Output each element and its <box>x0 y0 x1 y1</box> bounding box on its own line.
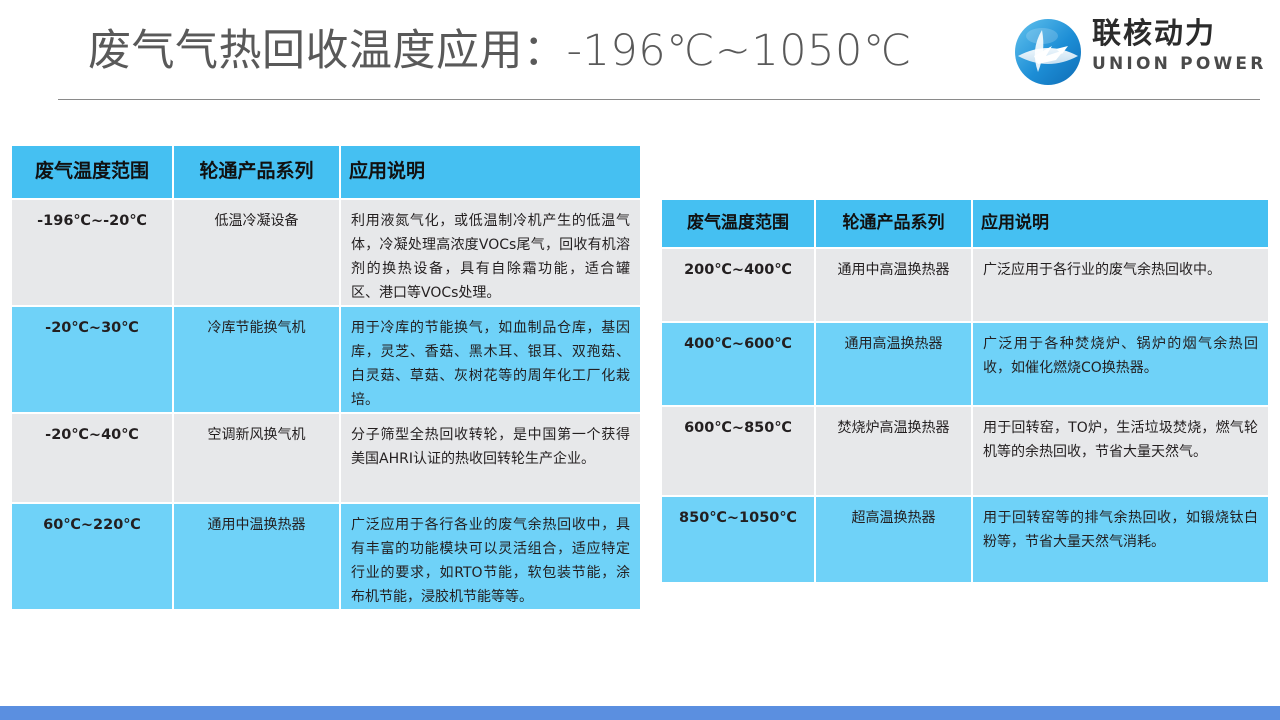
cell-application-note: 用于回转窑等的排气余热回收，如锻烧钛白粉等，节省大量天然气消耗。 <box>973 497 1268 582</box>
header-divider <box>58 99 1260 100</box>
cell-application-note: 利用液氮气化，或低温制冷机产生的低温气体，冷凝处理高浓度VOCs尾气，回收有机溶… <box>341 200 640 305</box>
cell-temperature-range: 600℃~850℃ <box>662 407 814 495</box>
cell-application-note: 广泛用于各种焚烧炉、锅炉的烟气余热回收，如催化燃烧CO换热器。 <box>973 323 1268 405</box>
cell-product-series: 通用中高温换热器 <box>816 249 971 321</box>
table-row[interactable]: -20℃~30℃ 冷库节能换气机 用于冷库的节能换气，如血制品仓库，基因库，灵芝… <box>12 307 640 412</box>
table-row[interactable]: 400℃~600℃ 通用高温换热器 广泛用于各种焚烧炉、锅炉的烟气余热回收，如催… <box>662 323 1268 405</box>
cell-temperature-range: 200℃~400℃ <box>662 249 814 321</box>
cell-product-series: 空调新风换气机 <box>174 414 339 502</box>
table-row[interactable]: 200℃~400℃ 通用中高温换热器 广泛应用于各行业的废气余热回收中。 <box>662 249 1268 321</box>
page-title: 废气气热回收温度应用：-196℃~1050℃ <box>88 25 912 79</box>
column-header-temperature-range: 废气温度范围 <box>662 200 814 247</box>
cell-temperature-range: 400℃~600℃ <box>662 323 814 405</box>
cell-application-note: 分子筛型全热回收转轮，是中国第一个获得美国AHRI认证的热收回转轮生产企业。 <box>341 414 640 502</box>
cell-temperature-range: 60℃~220℃ <box>12 504 172 609</box>
page-header: 废气气热回收温度应用：-196℃~1050℃ <box>0 0 1280 100</box>
logo-text-block: 联核动力 UNION POWER <box>1092 18 1262 75</box>
footer-accent-bar <box>0 706 1280 720</box>
cell-product-series: 冷库节能换气机 <box>174 307 339 412</box>
table-row[interactable]: 60℃~220℃ 通用中温换热器 广泛应用于各行各业的废气余热回收中，具有丰富的… <box>12 504 640 609</box>
cell-temperature-range: -20℃~30℃ <box>12 307 172 412</box>
cell-application-note: 广泛应用于各行业的废气余热回收中。 <box>973 249 1268 321</box>
cell-product-series: 通用中温换热器 <box>174 504 339 609</box>
logo-name-cn: 联核动力 <box>1092 18 1262 50</box>
table-header-row: 废气温度范围 轮通产品系列 应用说明 <box>662 200 1268 247</box>
cell-application-note: 用于冷库的节能换气，如血制品仓库，基因库，灵芝、香菇、黑木耳、银耳、双孢菇、白灵… <box>341 307 640 412</box>
table-row[interactable]: 600℃~850℃ 焚烧炉高温换热器 用于回转窑，TO炉，生活垃圾焚烧，燃气轮机… <box>662 407 1268 495</box>
union-power-globe-icon <box>1012 16 1084 88</box>
cell-product-series: 通用高温换热器 <box>816 323 971 405</box>
company-logo: 联核动力 UNION POWER <box>1012 14 1262 90</box>
column-header-application-note: 应用说明 <box>973 200 1268 247</box>
column-header-temperature-range: 废气温度范围 <box>12 146 172 198</box>
cell-application-note: 广泛应用于各行各业的废气余热回收中，具有丰富的功能模块可以灵活组合，适应特定行业… <box>341 504 640 609</box>
cell-application-note: 用于回转窑，TO炉，生活垃圾焚烧，燃气轮机等的余热回收，节省大量天然气。 <box>973 407 1268 495</box>
temperature-application-table-right: 废气温度范围 轮通产品系列 应用说明 200℃~400℃ 通用中高温换热器 广泛… <box>662 200 1268 582</box>
cell-temperature-range: -20℃~40℃ <box>12 414 172 502</box>
cell-product-series: 焚烧炉高温换热器 <box>816 407 971 495</box>
column-header-application-note: 应用说明 <box>341 146 640 198</box>
logo-name-en: UNION POWER <box>1092 53 1262 75</box>
table-row[interactable]: 850℃~1050℃ 超高温换热器 用于回转窑等的排气余热回收，如锻烧钛白粉等，… <box>662 497 1268 582</box>
column-header-product-series: 轮通产品系列 <box>816 200 971 247</box>
cell-temperature-range: 850℃~1050℃ <box>662 497 814 582</box>
temperature-application-table-left: 废气温度范围 轮通产品系列 应用说明 -196℃~-20℃ 低温冷凝设备 利用液… <box>12 146 640 609</box>
column-header-product-series: 轮通产品系列 <box>174 146 339 198</box>
cell-product-series: 低温冷凝设备 <box>174 200 339 305</box>
table-header-row: 废气温度范围 轮通产品系列 应用说明 <box>12 146 640 198</box>
cell-temperature-range: -196℃~-20℃ <box>12 200 172 305</box>
table-row[interactable]: -196℃~-20℃ 低温冷凝设备 利用液氮气化，或低温制冷机产生的低温气体，冷… <box>12 200 640 305</box>
table-row[interactable]: -20℃~40℃ 空调新风换气机 分子筛型全热回收转轮，是中国第一个获得美国AH… <box>12 414 640 502</box>
cell-product-series: 超高温换热器 <box>816 497 971 582</box>
